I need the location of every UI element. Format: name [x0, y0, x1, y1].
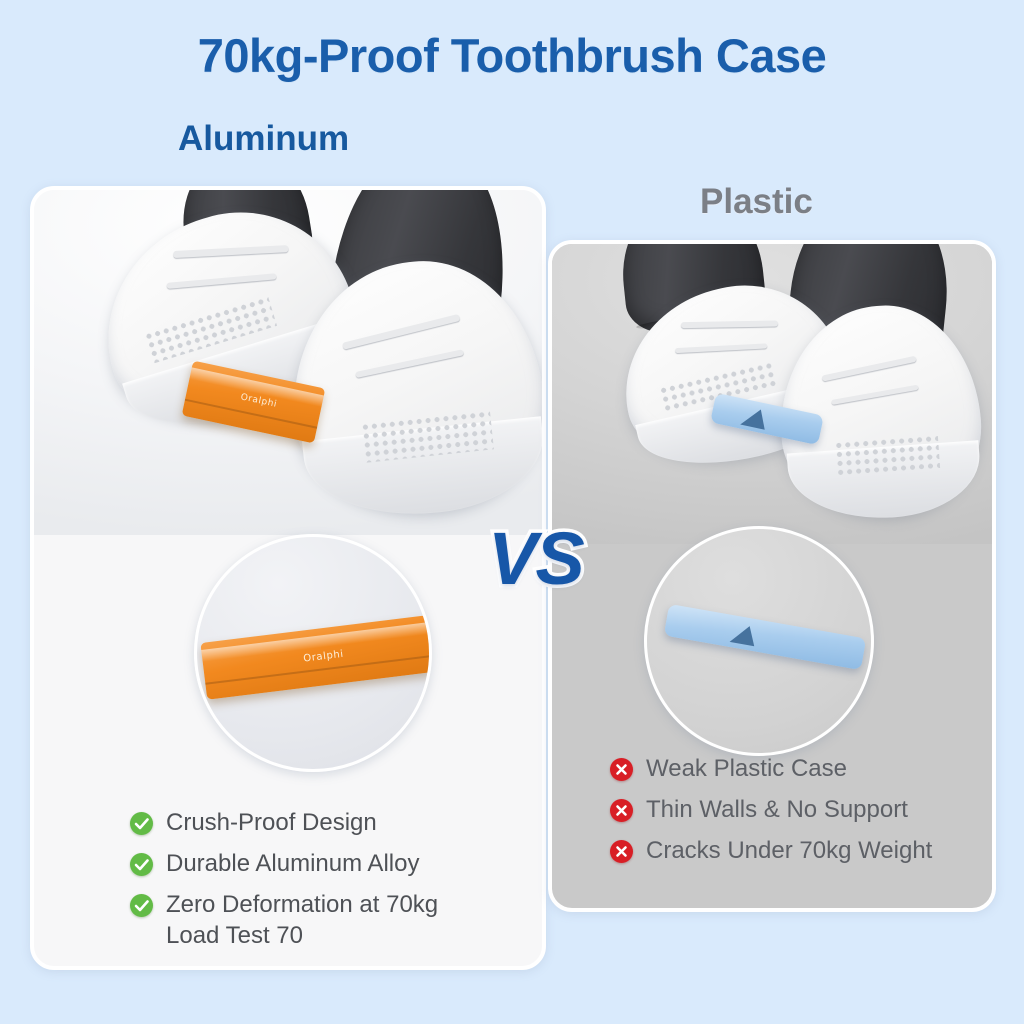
feature-label: Crush-Proof Design: [166, 808, 377, 839]
drawback-label: Cracks Under 70kg Weight: [646, 836, 932, 867]
feature-label: Durable Aluminum Alloy: [166, 849, 419, 880]
drawback-item: Thin Walls & No Support: [610, 795, 980, 826]
shoe-lace: [166, 273, 276, 289]
aluminum-heading: Aluminum: [178, 119, 349, 159]
check-circle-icon: [130, 894, 153, 917]
shoe-lace: [821, 356, 916, 382]
cross-circle-icon: [610, 840, 633, 863]
plastic-drawback-list: Weak Plastic Case Thin Walls & No Suppor…: [610, 754, 980, 867]
feature-item: Crush-Proof Design: [130, 808, 490, 839]
crack-hole: [730, 623, 758, 646]
shoe-lace: [173, 245, 288, 258]
blue-case-closeup: [664, 604, 867, 670]
cross-circle-icon: [610, 758, 633, 781]
page-title: 70kg-Proof Toothbrush Case: [0, 28, 1024, 83]
check-circle-icon: [130, 853, 153, 876]
feature-item: Zero Deformation at 70kg Load Test 70: [130, 890, 490, 952]
cross-circle-icon: [610, 799, 633, 822]
plastic-heading: Plastic: [700, 182, 813, 222]
plastic-detail-circle: [644, 526, 874, 756]
aluminum-feature-list: Crush-Proof Design Durable Aluminum Allo…: [130, 808, 490, 952]
check-circle-icon: [130, 812, 153, 835]
feature-label: Zero Deformation at 70kg Load Test 70: [166, 890, 466, 952]
shoe-lace: [681, 320, 778, 328]
shoe-lace: [355, 349, 464, 378]
drawback-item: Weak Plastic Case: [610, 754, 980, 785]
aluminum-detail-circle: Oralphi: [194, 534, 432, 772]
orange-case-closeup: Oralphi: [200, 615, 432, 699]
shoe-lace: [831, 385, 919, 405]
shoe-lace: [675, 343, 768, 353]
brand-logo: Oralphi: [303, 649, 345, 665]
infographic-stage: 70kg-Proof Toothbrush Case Aluminum Plas…: [0, 0, 1024, 1024]
aluminum-photo: Oralphi: [34, 190, 542, 535]
feature-item: Durable Aluminum Alloy: [130, 849, 490, 880]
vs-badge: VS: [488, 516, 583, 601]
drawback-label: Thin Walls & No Support: [646, 795, 908, 826]
drawback-label: Weak Plastic Case: [646, 754, 847, 785]
shoe-lace: [342, 314, 460, 350]
crack-hole: [740, 406, 768, 430]
aluminum-panel: Oralphi Oralphi Crush-Proof Design: [30, 186, 546, 970]
plastic-panel: Weak Plastic Case Thin Walls & No Suppor…: [548, 240, 996, 912]
plastic-photo: [552, 244, 992, 544]
drawback-item: Cracks Under 70kg Weight: [610, 836, 980, 867]
